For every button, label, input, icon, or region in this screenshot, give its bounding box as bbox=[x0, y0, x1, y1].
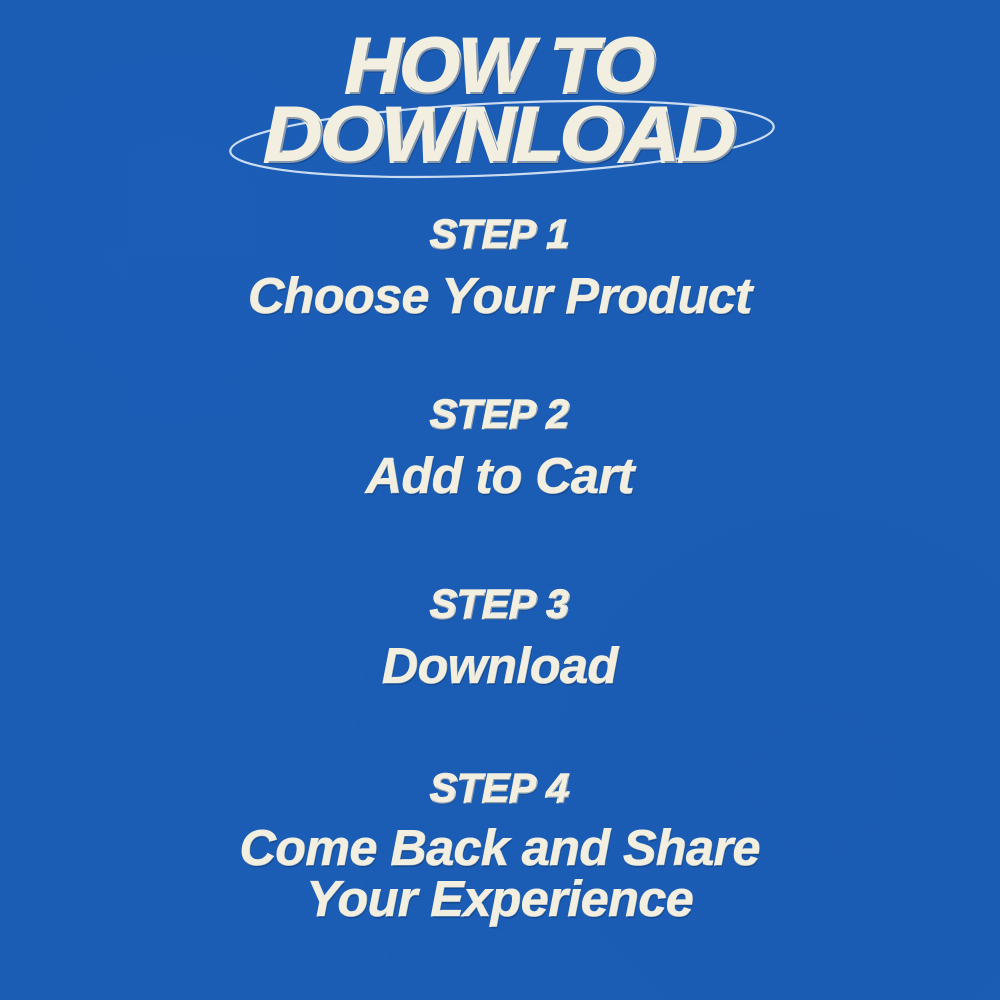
step-4-text-line-2: Your Experience bbox=[0, 874, 1000, 925]
step-4-text: Come Back and Share Your Experience bbox=[0, 823, 1000, 925]
step-2-label: STEP 2 bbox=[0, 394, 1000, 437]
poster-canvas: HOW TO DOWNLOAD STEP 1 Choose Your Produ… bbox=[0, 0, 1000, 1000]
poster-title: HOW TO DOWNLOAD bbox=[0, 34, 1000, 169]
step-3-text: Download bbox=[0, 641, 1000, 692]
step-3-label: STEP 3 bbox=[0, 584, 1000, 627]
step-item-1: STEP 1 Choose Your Product bbox=[0, 214, 1000, 322]
title-line-download: DOWNLOAD bbox=[0, 103, 1000, 168]
step-item-4: STEP 4 Come Back and Share Your Experien… bbox=[0, 768, 1000, 925]
step-4-label: STEP 4 bbox=[0, 768, 1000, 811]
step-4-text-line-1: Come Back and Share bbox=[0, 823, 1000, 874]
step-item-3: STEP 3 Download bbox=[0, 584, 1000, 692]
step-1-text: Choose Your Product bbox=[0, 271, 1000, 322]
title-line-how-to: HOW TO bbox=[0, 34, 1000, 99]
step-2-text: Add to Cart bbox=[0, 451, 1000, 502]
step-1-label: STEP 1 bbox=[0, 214, 1000, 257]
step-item-2: STEP 2 Add to Cart bbox=[0, 394, 1000, 502]
